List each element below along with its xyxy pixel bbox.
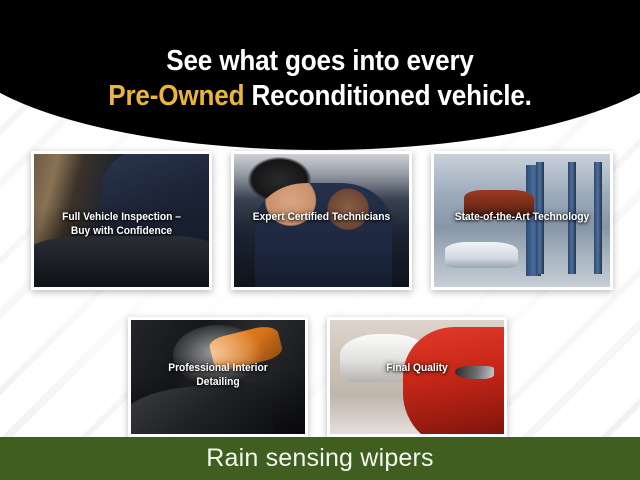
caption-line-1: Final Quality: [386, 362, 447, 374]
card-image-detailing: Professional Interior Detailing: [131, 320, 305, 434]
white-car-shape: [445, 242, 519, 269]
headline-line-2: Pre-Owned Reconditioned vehicle.: [32, 79, 608, 114]
caption-line-1: Full Vehicle Inspection –: [62, 211, 181, 223]
card-caption-detailing: Professional Interior Detailing: [137, 361, 299, 389]
feature-caption-text: Rain sensing wipers: [206, 444, 434, 473]
card-image-technology: State-of-the-Art Technology: [434, 154, 610, 287]
card-full-vehicle-inspection[interactable]: Full Vehicle Inspection – Buy with Confi…: [31, 151, 212, 290]
card-caption-technicians: Expert Certified Technicians: [240, 210, 403, 224]
headline-highlight: Pre-Owned: [108, 80, 244, 112]
headline-line-2-rest: Reconditioned vehicle.: [244, 80, 531, 112]
card-caption-technology: State-of-the-Art Technology: [440, 210, 604, 224]
caption-line-1: Professional Interior: [168, 362, 267, 374]
card-expert-certified-technicians[interactable]: Expert Certified Technicians: [231, 151, 412, 290]
caption-line-1: State-of-the-Art Technology: [455, 211, 590, 223]
headline-line-1: See what goes into every: [32, 44, 608, 79]
caption-line-2: Detailing: [196, 376, 239, 388]
card-image-inspection: Full Vehicle Inspection – Buy with Confi…: [34, 154, 209, 287]
card-final-quality[interactable]: Final Quality: [327, 317, 507, 437]
card-image-final: Final Quality: [330, 320, 504, 434]
card-caption-inspection: Full Vehicle Inspection – Buy with Confi…: [40, 210, 203, 238]
caption-line-2: Buy with Confidence: [71, 225, 172, 237]
feature-caption-bar: Rain sensing wipers: [0, 437, 640, 480]
promo-slide: See what goes into every Pre-Owned Recon…: [0, 0, 640, 480]
card-image-technicians: Expert Certified Technicians: [234, 154, 409, 287]
card-state-of-the-art-technology[interactable]: State-of-the-Art Technology: [431, 151, 613, 290]
card-professional-interior-detailing[interactable]: Professional Interior Detailing: [128, 317, 308, 437]
page-title: See what goes into every Pre-Owned Recon…: [32, 44, 608, 115]
card-caption-final: Final Quality: [336, 361, 498, 375]
caption-line-1: Expert Certified Technicians: [253, 211, 390, 223]
